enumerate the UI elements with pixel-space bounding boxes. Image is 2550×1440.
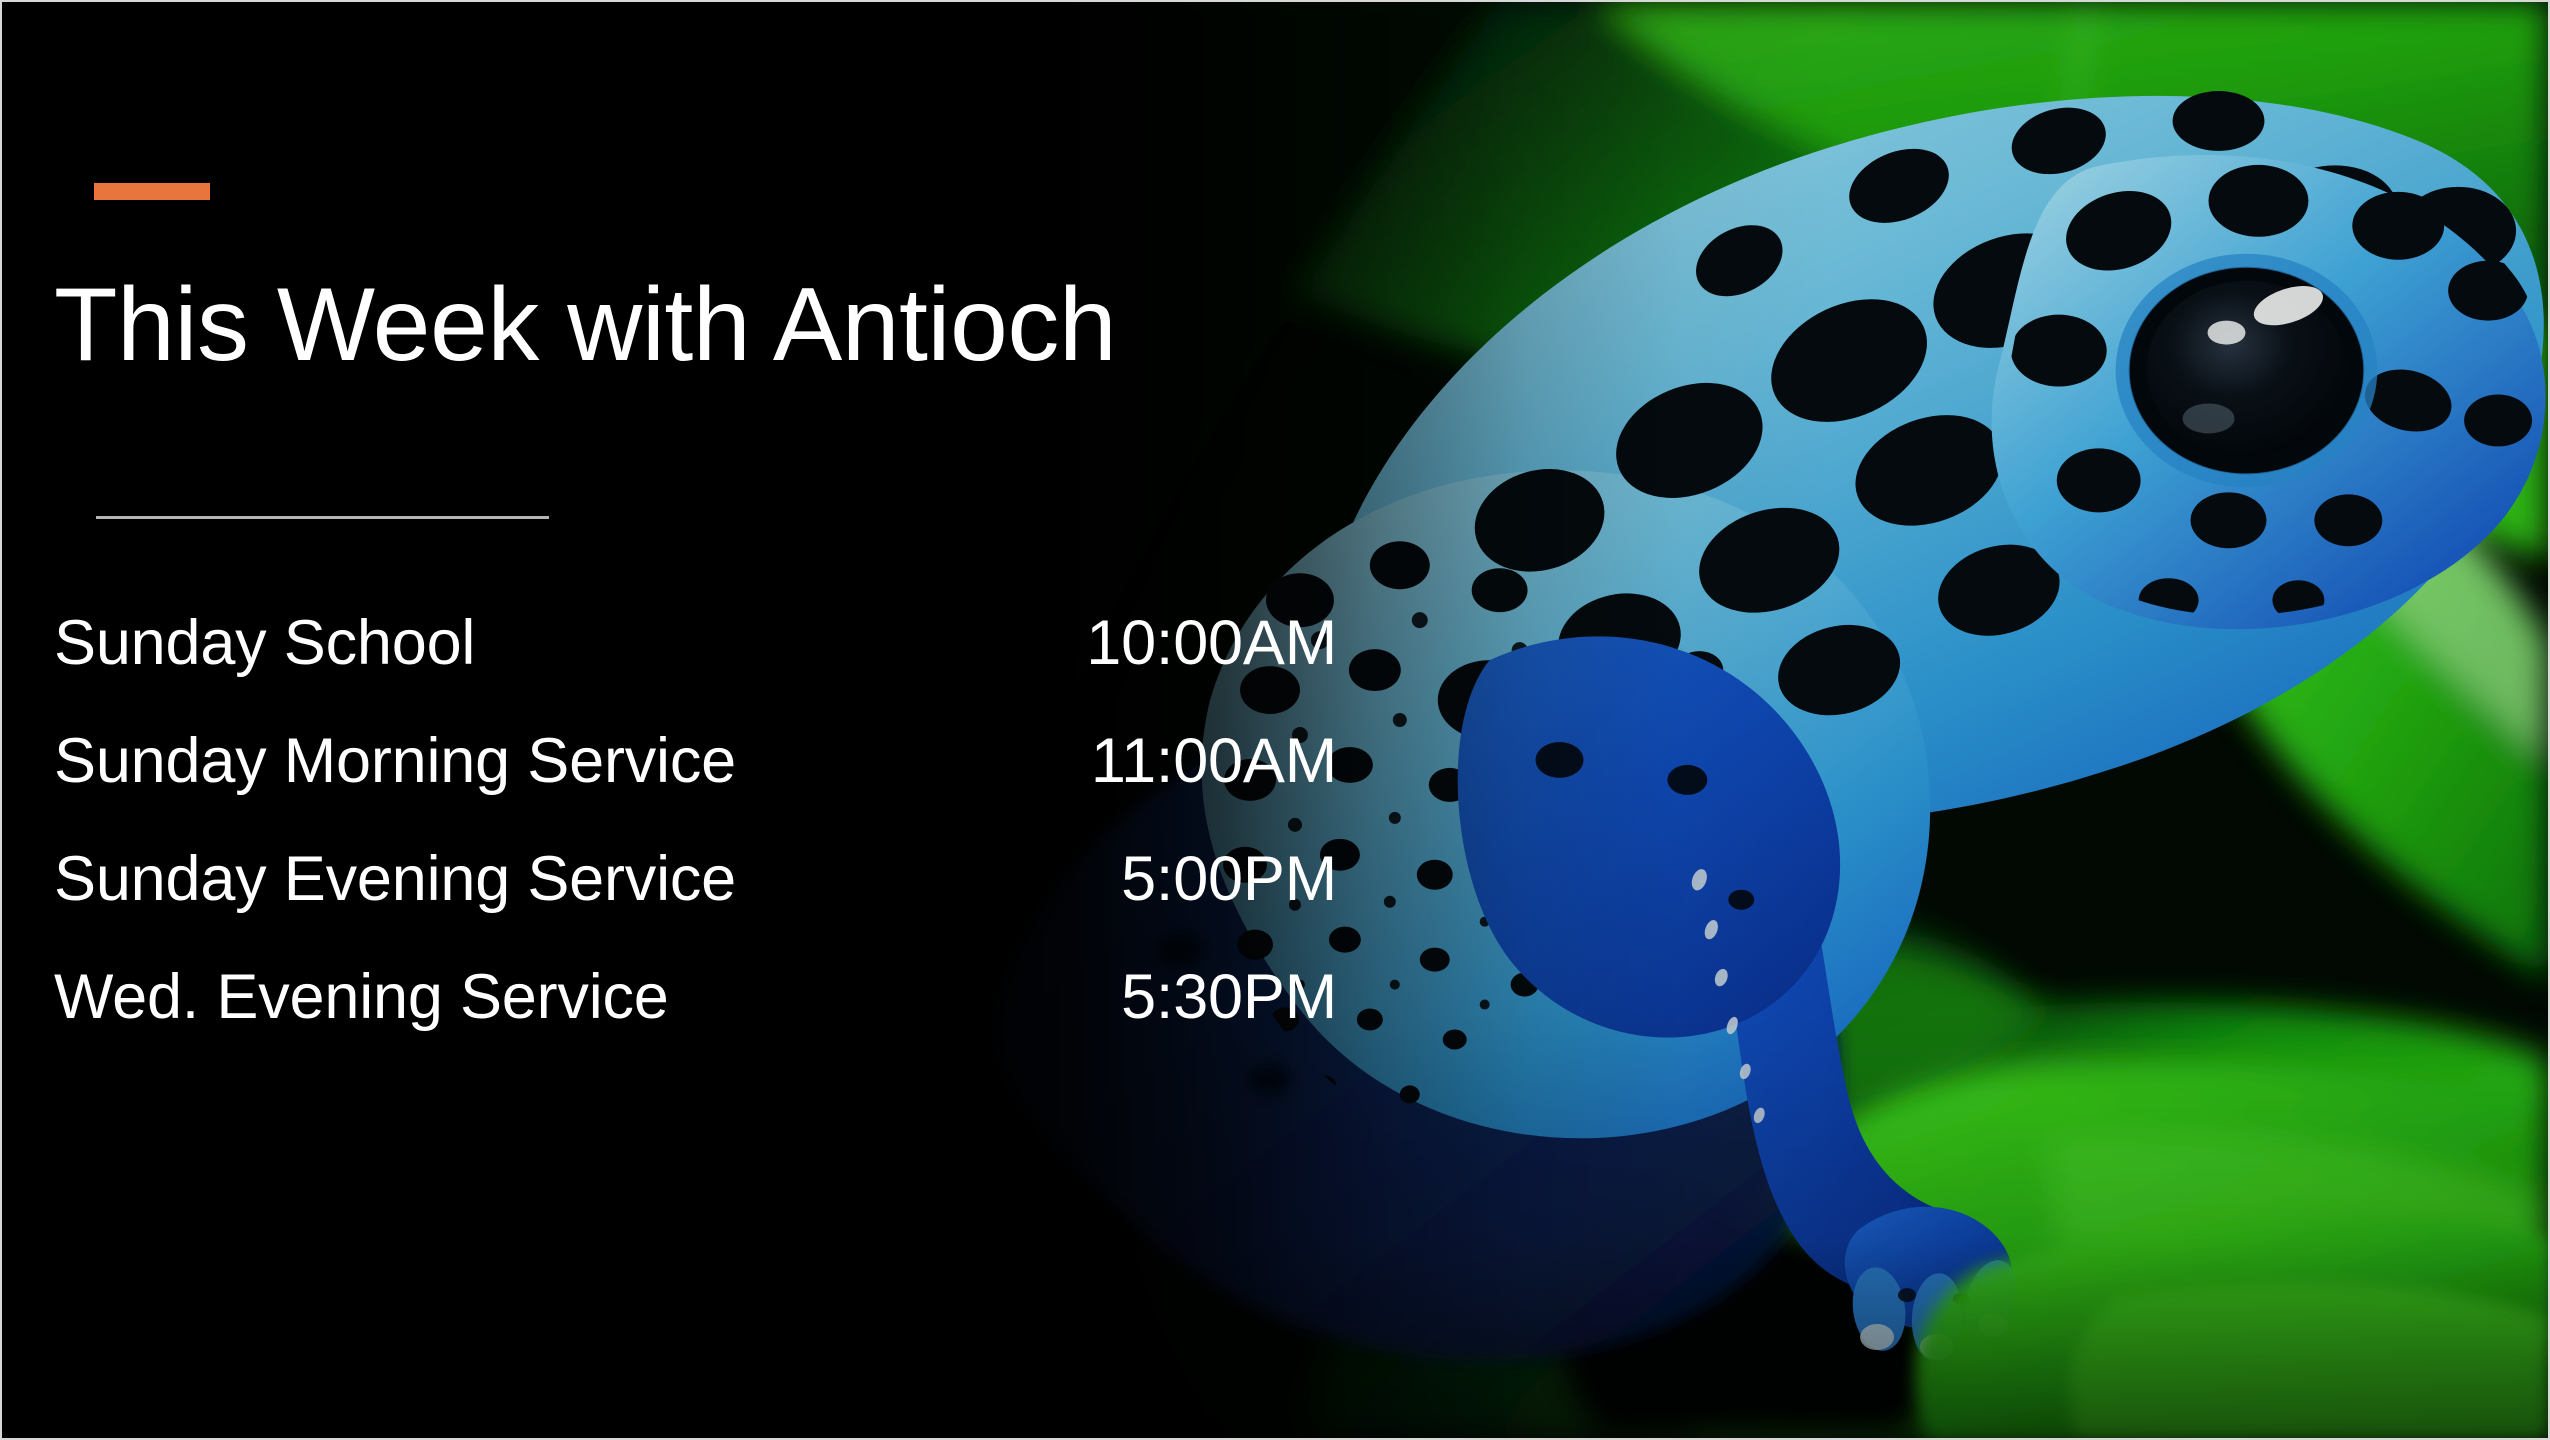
schedule-label: Wed. Evening Service bbox=[54, 938, 669, 1056]
page-title: This Week with Antioch bbox=[54, 270, 1116, 380]
orange-accent-bar bbox=[94, 183, 210, 200]
schedule-label: Sunday Evening Service bbox=[54, 820, 736, 938]
slide-canvas: This Week with Antioch Sunday School 10:… bbox=[0, 0, 2550, 1440]
schedule-row: Sunday School 10:00AM bbox=[54, 584, 1337, 702]
schedule-label: Sunday Morning Service bbox=[54, 702, 736, 820]
schedule-row: Wed. Evening Service 5:30PM bbox=[54, 938, 1337, 1056]
title-divider-line bbox=[96, 516, 549, 519]
schedule-time: 10:00AM bbox=[1086, 584, 1337, 702]
schedule-label: Sunday School bbox=[54, 584, 475, 702]
schedule-row: Sunday Evening Service 5:00PM bbox=[54, 820, 1337, 938]
service-schedule-list: Sunday School 10:00AM Sunday Morning Ser… bbox=[54, 584, 1337, 1056]
schedule-time: 11:00AM bbox=[1091, 702, 1337, 820]
slide-content: This Week with Antioch Sunday School 10:… bbox=[54, 2, 1374, 1438]
schedule-row: Sunday Morning Service 11:00AM bbox=[54, 702, 1337, 820]
schedule-time: 5:30PM bbox=[1121, 938, 1337, 1056]
schedule-time: 5:00PM bbox=[1121, 820, 1337, 938]
